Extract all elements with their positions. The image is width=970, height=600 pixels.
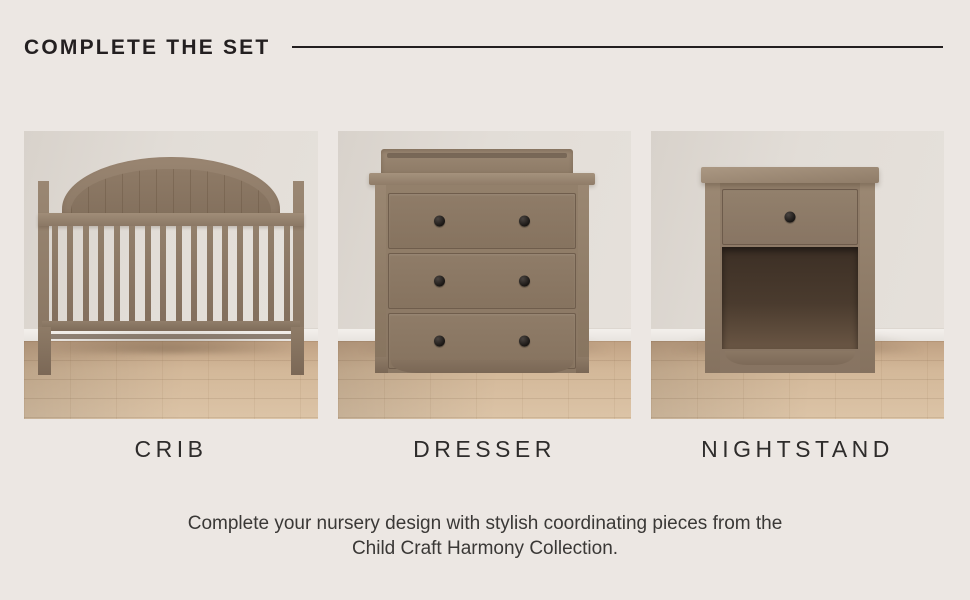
crib-leg-right <box>291 327 304 375</box>
crib-headboard <box>62 157 280 217</box>
section-header: COMPLETE THE SET <box>24 30 944 64</box>
crib-slat <box>284 226 290 321</box>
changing-topper <box>381 149 573 175</box>
crib-slat <box>176 226 182 321</box>
product-label-dresser[interactable]: DRESSER <box>338 436 631 464</box>
product-image-crib[interactable] <box>24 131 318 419</box>
product-label-nightstand[interactable]: NIGHTSTAND <box>651 436 944 464</box>
crib-slats <box>52 226 290 321</box>
caption-line-1: Complete your nursery design with stylis… <box>85 511 885 536</box>
complete-the-set-section: COMPLETE THE SET <box>0 0 970 600</box>
nightstand-leg-right <box>860 183 875 373</box>
crib-slat <box>222 226 228 321</box>
nightstand-leg-left <box>705 183 720 373</box>
drawer-knob-icon <box>434 276 445 287</box>
crib-slat <box>129 226 135 321</box>
drawer-knob-icon <box>434 216 445 227</box>
dresser-top-surface <box>369 173 595 185</box>
header-divider <box>292 46 943 48</box>
nightstand-top-surface <box>701 167 879 183</box>
nightstand-illustration <box>705 167 875 373</box>
dresser-leg-left <box>375 357 388 373</box>
crib-top-rail <box>38 213 304 226</box>
crib-slat <box>83 226 89 321</box>
drawer-knob-icon <box>434 336 445 347</box>
drawer-knob-icon <box>519 276 530 287</box>
drawer-knob-icon <box>519 336 530 347</box>
dresser-side-right <box>578 185 589 363</box>
drawer-knob-icon <box>785 212 796 223</box>
nightstand-apron <box>725 351 855 365</box>
page-title: COMPLETE THE SET <box>24 37 270 58</box>
section-caption: Complete your nursery design with stylis… <box>85 511 885 561</box>
crib-slat <box>145 226 151 321</box>
crib-slat <box>114 226 120 321</box>
crib-slat <box>207 226 213 321</box>
product-image-row <box>24 131 944 419</box>
crib-stretcher <box>51 334 291 339</box>
crib-slat <box>52 226 58 321</box>
dresser-leg-right <box>576 357 589 373</box>
dresser-drawer-middle <box>388 253 576 309</box>
crib-slat <box>253 226 259 321</box>
crib-leg-left <box>38 327 51 375</box>
product-label-crib[interactable]: CRIB <box>24 436 318 464</box>
drawer-knob-icon <box>519 216 530 227</box>
crib-slat <box>237 226 243 321</box>
product-image-dresser[interactable] <box>338 131 631 419</box>
crib-headboard-panel <box>71 169 271 217</box>
dresser-drawer-top <box>388 193 576 249</box>
crib-slat <box>98 226 104 321</box>
nightstand-drawer <box>722 189 858 245</box>
crib-bottom-rail <box>42 321 300 331</box>
crib-slat <box>268 226 274 321</box>
dresser-side-left <box>375 185 386 363</box>
crib-slat <box>160 226 166 321</box>
crib-illustration <box>38 157 304 375</box>
nightstand-open-shelf <box>722 247 858 349</box>
dresser-illustration <box>369 149 595 373</box>
caption-line-2: Child Craft Harmony Collection. <box>85 536 885 561</box>
crib-slat <box>191 226 197 321</box>
dresser-apron <box>391 360 573 373</box>
product-label-row: CRIB DRESSER NIGHTSTAND <box>24 436 944 464</box>
crib-slat <box>67 226 73 321</box>
product-image-nightstand[interactable] <box>651 131 944 419</box>
